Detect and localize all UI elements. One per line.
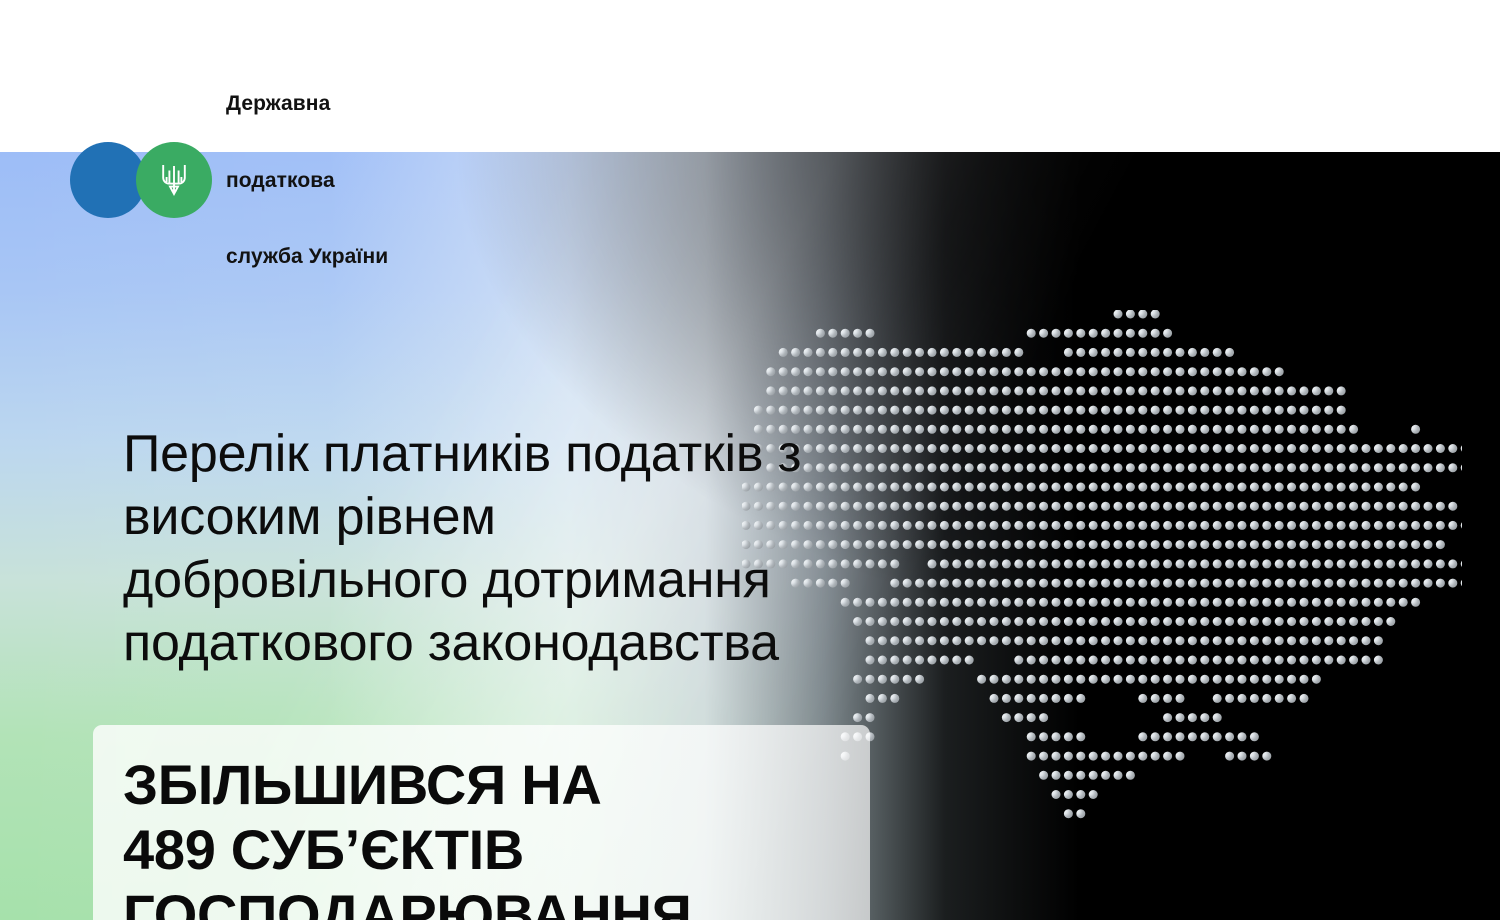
- page-title: Перелік платників податків з високим рів…: [123, 423, 823, 675]
- statistic-text: ЗБІЛЬШИВСЯ НА 489 СУБ’ЄКТІВ ГОСПОДАРЮВАН…: [123, 752, 853, 920]
- poster-canvas: Державна податкова служба України: [0, 0, 1500, 920]
- statistic-panel: ЗБІЛЬШИВСЯ НА 489 СУБ’ЄКТІВ ГОСПОДАРЮВАН…: [93, 725, 870, 920]
- logo-marks: [70, 142, 212, 218]
- circle-blue-icon: [70, 142, 146, 218]
- statistic-line-2: 489 СУБ’ЄКТІВ: [123, 817, 853, 882]
- header-bar: Державна податкова служба України: [0, 0, 1500, 152]
- statistic-line-1: ЗБІЛЬШИВСЯ НА: [123, 752, 853, 817]
- brand-name-line-1: Державна: [226, 91, 388, 117]
- brand-name: Державна податкова служба України: [226, 40, 388, 321]
- brand-name-line-2: податкова: [226, 168, 388, 194]
- trident-emblem-icon: [136, 142, 212, 218]
- statistic-line-3: ГОСПОДАРЮВАННЯ: [123, 882, 853, 920]
- brand-name-line-3: служба України: [226, 244, 388, 270]
- brand-logo[interactable]: Державна податкова служба України: [70, 40, 388, 321]
